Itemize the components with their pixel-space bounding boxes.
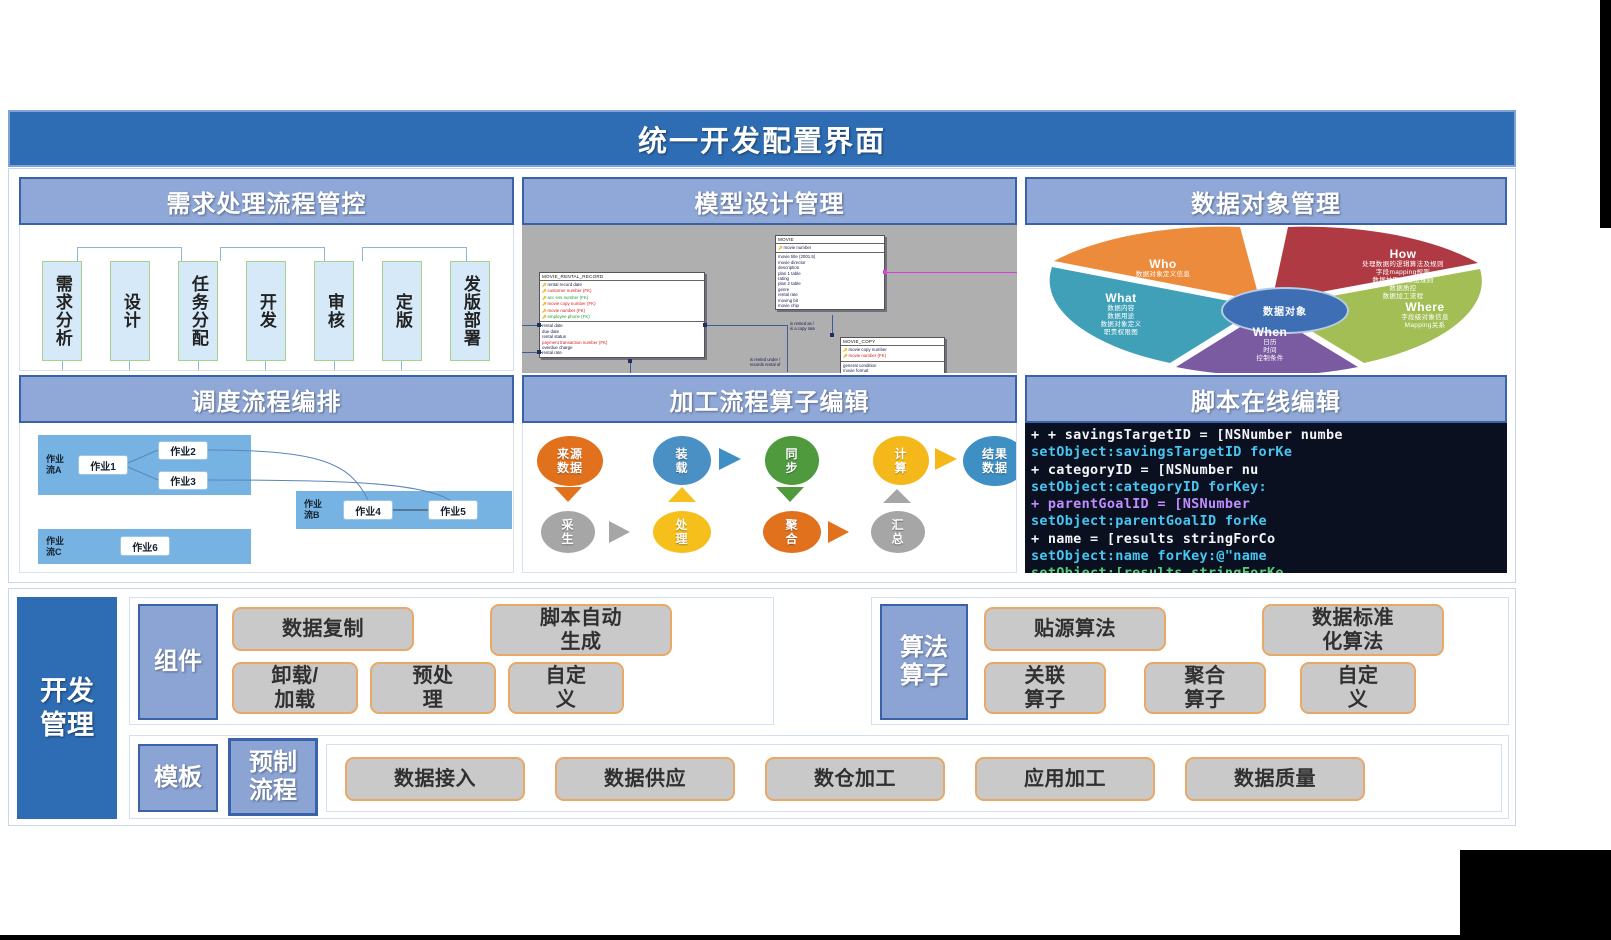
flow-step-4[interactable]: 审核 bbox=[314, 261, 354, 361]
panel-model-design[interactable]: 模型设计管理 MOVIE_RENTAL_RECORD rental record… bbox=[522, 177, 1017, 373]
code-line-4: + parentGoalID = [NSNumber bbox=[1031, 496, 1507, 513]
slide-canvas: 统一开发配置界面 需求处理流程管控 需求分析 设计 bbox=[0, 0, 1611, 940]
er-endpoint-2 bbox=[537, 350, 541, 354]
operator-node-result[interactable]: 结果 数据 bbox=[963, 436, 1017, 486]
pie-center-label: 数据对象 bbox=[1221, 287, 1349, 334]
panel-body-schedule: 作业 流A 作业1 作业2 作业3 作业 流B 作业4 作业5 作业 bbox=[19, 423, 514, 573]
er-diagram[interactable]: MOVIE_RENTAL_RECORD rental record date c… bbox=[522, 225, 1017, 373]
code-line-1: setObject:savingsTargetID forKe bbox=[1031, 444, 1507, 461]
dev-management-frame: 开发 管理 组件 数据复制 脚本自动 生成 卸载/ 加载 预处 理 自定 义 算… bbox=[8, 588, 1516, 826]
job-node-2[interactable]: 作业2 bbox=[158, 441, 208, 460]
er-relationship-label-1: is rented as / is a copy rate bbox=[790, 321, 852, 331]
flow-step-3[interactable]: 开发 bbox=[246, 261, 286, 361]
arrow-right-load bbox=[719, 448, 741, 470]
code-editor[interactable]: + + savingsTargetID = [NSNumber numbe se… bbox=[1025, 423, 1507, 573]
dev-row-template: 模板 预制 流程 数据接入 数据供应 数仓加工 应用加工 数据质量 bbox=[129, 735, 1509, 819]
code-line-8: setObject:[results stringForKe bbox=[1031, 565, 1507, 573]
job-node-3[interactable]: 作业3 bbox=[158, 471, 208, 490]
job-node-4[interactable]: 作业4 bbox=[343, 500, 393, 520]
er-endpoint-4 bbox=[628, 359, 632, 363]
panel-title-script: 脚本在线编辑 bbox=[1025, 375, 1507, 423]
er-keys-1: movie number bbox=[776, 243, 884, 252]
er-relationship-label-2: is rented under / records rental of bbox=[750, 357, 820, 367]
category-template[interactable]: 模板 bbox=[138, 744, 218, 812]
arrow-up-process bbox=[668, 487, 696, 502]
code-line-5: setObject:parentGoalID forKe bbox=[1031, 513, 1507, 530]
panel-body-requirement: 需求分析 设计 任务分配 开发 审核 定版 发版部署 bbox=[19, 225, 514, 371]
panel-title-operator: 加工流程算子编辑 bbox=[522, 375, 1017, 423]
flow-bracket-top-3 bbox=[362, 247, 467, 261]
er-connector-3 bbox=[705, 325, 788, 326]
chip-application-process[interactable]: 应用加工 bbox=[975, 757, 1155, 801]
er-fields-1: movie title (2001.5) movie director desc… bbox=[776, 252, 884, 309]
panel-body-script: + + savingsTargetID = [NSNumber numbe se… bbox=[1025, 423, 1507, 573]
er-table-movie-copy[interactable]: MOVIE_COPY movie copy number movie numbe… bbox=[840, 337, 945, 373]
er-endpoint-3 bbox=[703, 323, 707, 327]
panel-schedule-flow[interactable]: 调度流程编排 作业 流A 作业1 作业2 作业3 作业 流B bbox=[19, 375, 514, 575]
edge-decoration-right-top bbox=[1600, 0, 1611, 228]
flow-bracket-bottom-1 bbox=[62, 361, 130, 371]
chip-aggregate-operator[interactable]: 聚合 算子 bbox=[1144, 662, 1266, 714]
panel-body-dataobject: 数据对象 Who 数据对象定义信息 How 处理数据的逻辑算法及规则 字段map… bbox=[1025, 225, 1507, 373]
er-table-movie-rental-record[interactable]: MOVIE_RENTAL_RECORD rental record date c… bbox=[539, 272, 705, 358]
arrow-right-collect bbox=[609, 521, 630, 543]
er-table-movie[interactable]: MOVIE movie number movie title (2001.5) … bbox=[775, 235, 885, 310]
flow-bracket-top-2 bbox=[220, 247, 325, 261]
panel-operator-editor[interactable]: 加工流程算子编辑 来源 数据 装 载 同 步 计 算 结果 数据 采 生 处 理… bbox=[522, 375, 1017, 575]
preset-flow-chip-row: 数据接入 数据供应 数仓加工 应用加工 数据质量 bbox=[326, 744, 1502, 812]
arrow-up-summary bbox=[883, 489, 911, 503]
operator-node-sync[interactable]: 同 步 bbox=[765, 436, 819, 485]
arrow-down-sync bbox=[776, 487, 804, 502]
er-endpoint-pink bbox=[883, 270, 887, 274]
chip-script-auto-generate[interactable]: 脚本自动 生成 bbox=[490, 604, 672, 656]
flow-step-6[interactable]: 发版部署 bbox=[450, 261, 490, 361]
job-node-5[interactable]: 作业5 bbox=[428, 500, 478, 520]
arrow-right-compute bbox=[935, 448, 957, 470]
operator-node-process[interactable]: 处 理 bbox=[653, 511, 711, 553]
page-title: 统一开发配置界面 bbox=[638, 118, 886, 160]
code-line-7: setObject:name forKey:@"name bbox=[1031, 548, 1507, 565]
flow-bracket-top-1 bbox=[77, 247, 182, 261]
flow-bracket-bottom-3 bbox=[334, 361, 402, 371]
dev-row-component: 组件 数据复制 脚本自动 生成 卸载/ 加载 预处 理 自定 义 bbox=[129, 597, 774, 725]
edge-decoration-right-bottom bbox=[1460, 850, 1611, 938]
upper-panel-frame: 需求处理流程管控 需求分析 设计 任务分配 开发 审核 定版 bbox=[8, 168, 1516, 583]
er-keys-2: movie copy number movie number (FK) bbox=[841, 345, 944, 361]
chip-data-ingest[interactable]: 数据接入 bbox=[345, 757, 525, 801]
er-fields-2: general condition movie format bbox=[841, 361, 944, 373]
flow-step-0[interactable]: 需求分析 bbox=[42, 261, 82, 361]
dev-row-algorithm: 算法 算子 贴源算法 数据标准 化算法 关联 算子 聚合 算子 自定 义 bbox=[871, 597, 1509, 725]
code-line-3: setObject:categoryID forKey: bbox=[1031, 479, 1507, 496]
er-endpoint-1 bbox=[537, 323, 541, 327]
chip-data-replication[interactable]: 数据复制 bbox=[232, 607, 414, 651]
master-header: 统一开发配置界面 bbox=[8, 110, 1516, 167]
operator-node-load[interactable]: 装 载 bbox=[653, 436, 711, 485]
category-algorithm-operator[interactable]: 算法 算子 bbox=[880, 604, 968, 720]
chip-custom-component[interactable]: 自定 义 bbox=[508, 662, 624, 714]
chip-join-operator[interactable]: 关联 算子 bbox=[984, 662, 1106, 714]
edge-decoration-bottom bbox=[0, 935, 1611, 940]
operator-node-aggregate[interactable]: 聚 合 bbox=[763, 511, 821, 553]
chip-standardization-algorithm[interactable]: 数据标准 化算法 bbox=[1262, 604, 1444, 656]
job-group-a[interactable]: 作业 流A bbox=[38, 435, 251, 495]
panel-title-model: 模型设计管理 bbox=[522, 177, 1017, 225]
er-fields-0: rental date due date rental status payme… bbox=[540, 321, 704, 356]
code-line-0: + + savingsTargetID = [NSNumber numbe bbox=[1031, 427, 1507, 444]
panel-script-editor[interactable]: 脚本在线编辑 + + savingsTargetID = [NSNumber n… bbox=[1025, 375, 1507, 575]
job-flow-diagram[interactable]: 作业 流A 作业1 作业2 作业3 作业 流B 作业4 作业5 作业 bbox=[20, 423, 513, 572]
chip-data-quality[interactable]: 数据质量 bbox=[1185, 757, 1365, 801]
panel-data-object[interactable]: 数据对象管理 bbox=[1025, 177, 1507, 373]
er-connector-5 bbox=[630, 362, 631, 373]
flow-step-5[interactable]: 定版 bbox=[382, 261, 422, 361]
operator-canvas[interactable]: 来源 数据 装 载 同 步 计 算 结果 数据 采 生 处 理 聚 合 汇 总 bbox=[523, 423, 1016, 572]
code-line-2: + categoryID = [NSNumber nu bbox=[1031, 462, 1507, 479]
arrow-down-source bbox=[554, 487, 582, 502]
code-line-6: + name = [results stringForCo bbox=[1031, 531, 1507, 548]
chip-custom-operator[interactable]: 自定 义 bbox=[1300, 662, 1416, 714]
job-node-1[interactable]: 作业1 bbox=[78, 455, 128, 475]
er-keys-0: rental record date customer number (FK) … bbox=[540, 280, 704, 321]
chip-preprocess[interactable]: 预处 理 bbox=[370, 662, 496, 714]
panel-title-requirement: 需求处理流程管控 bbox=[19, 177, 514, 225]
operator-node-source[interactable]: 来源 数据 bbox=[537, 436, 603, 486]
panel-body-model: MOVIE_RENTAL_RECORD rental record date c… bbox=[522, 225, 1017, 373]
dev-management-side-label: 开发 管理 bbox=[17, 597, 117, 819]
panel-body-operator: 来源 数据 装 载 同 步 计 算 结果 数据 采 生 处 理 聚 合 汇 总 bbox=[522, 423, 1017, 573]
data-object-pie-chart[interactable]: 数据对象 Who 数据对象定义信息 How 处理数据的逻辑算法及规则 字段map… bbox=[1025, 225, 1507, 373]
panel-title-dataobject: 数据对象管理 bbox=[1025, 177, 1507, 225]
flow-bracket-bottom-2 bbox=[198, 361, 266, 371]
chip-warehouse-process[interactable]: 数仓加工 bbox=[765, 757, 945, 801]
er-connector-pink bbox=[885, 272, 1017, 273]
panel-title-schedule: 调度流程编排 bbox=[19, 375, 514, 423]
job-node-6[interactable]: 作业6 bbox=[120, 536, 170, 556]
job-group-b[interactable]: 作业 流B bbox=[296, 491, 512, 529]
chip-data-supply[interactable]: 数据供应 bbox=[555, 757, 735, 801]
operator-node-compute[interactable]: 计 算 bbox=[873, 436, 929, 485]
flow-step-2[interactable]: 任务分配 bbox=[178, 261, 218, 361]
chip-source-algorithm[interactable]: 贴源算法 bbox=[984, 607, 1166, 651]
operator-node-collect[interactable]: 采 生 bbox=[541, 511, 595, 553]
category-component[interactable]: 组件 bbox=[138, 604, 218, 720]
operator-node-summary[interactable]: 汇 总 bbox=[871, 511, 925, 553]
chip-unload-load[interactable]: 卸载/ 加载 bbox=[232, 662, 358, 714]
flow-step-1[interactable]: 设计 bbox=[110, 261, 150, 361]
er-endpoint-5 bbox=[830, 333, 834, 337]
arrow-right-aggregate bbox=[828, 521, 849, 543]
panel-requirement-process[interactable]: 需求处理流程管控 需求分析 设计 任务分配 开发 审核 定版 bbox=[19, 177, 514, 373]
requirement-flow-diagram: 需求分析 设计 任务分配 开发 审核 定版 发版部署 bbox=[20, 225, 513, 370]
category-preset-flow[interactable]: 预制 流程 bbox=[228, 738, 318, 816]
